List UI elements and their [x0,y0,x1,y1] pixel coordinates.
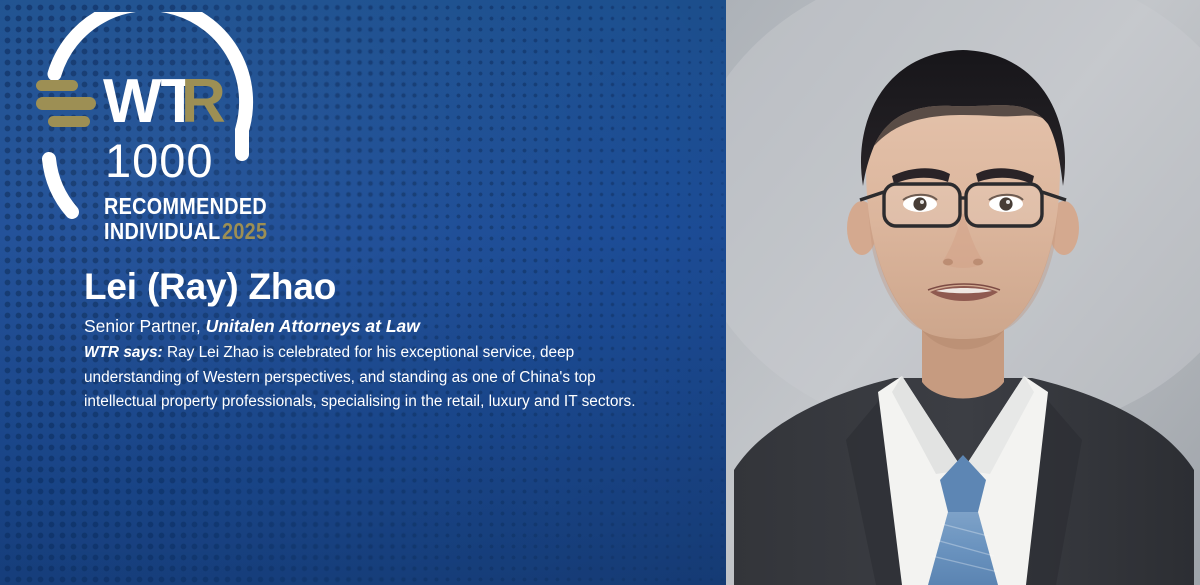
logo-wordmark-r: R [181,67,226,136]
logo-rank-1000: 1000 [105,134,214,187]
person-name: Lei (Ray) Zhao [84,268,656,306]
wtr-bars-icon [36,80,96,127]
firm-name: Unitalen Attorneys at Law [206,316,420,336]
logo-award-line-2: INDIVIDUAL [104,219,221,242]
logo-award-year: 2025 [222,219,267,242]
logo-award-line-1: RECOMMENDED [104,194,267,220]
wtr-says-label: WTR says: [84,344,163,361]
wtr-1000-logo: WT R 1000 RECOMMENDED INDIVIDUAL 2025 [18,12,278,242]
wtr-recommended-individual-card: WT R 1000 RECOMMENDED INDIVIDUAL 2025 Le… [0,0,1200,585]
role-line: Senior Partner, Unitalen Attorneys at La… [84,315,656,337]
wtr-says-quote: WTR says: Ray Lei Zhao is celebrated for… [84,341,656,415]
profile-text-block: Lei (Ray) Zhao Senior Partner, Unitalen … [84,268,656,415]
portrait-photo [726,0,1200,585]
role-title: Senior Partner, [84,316,201,336]
wtr-says-text: Ray Lei Zhao is celebrated for his excep… [84,344,636,410]
